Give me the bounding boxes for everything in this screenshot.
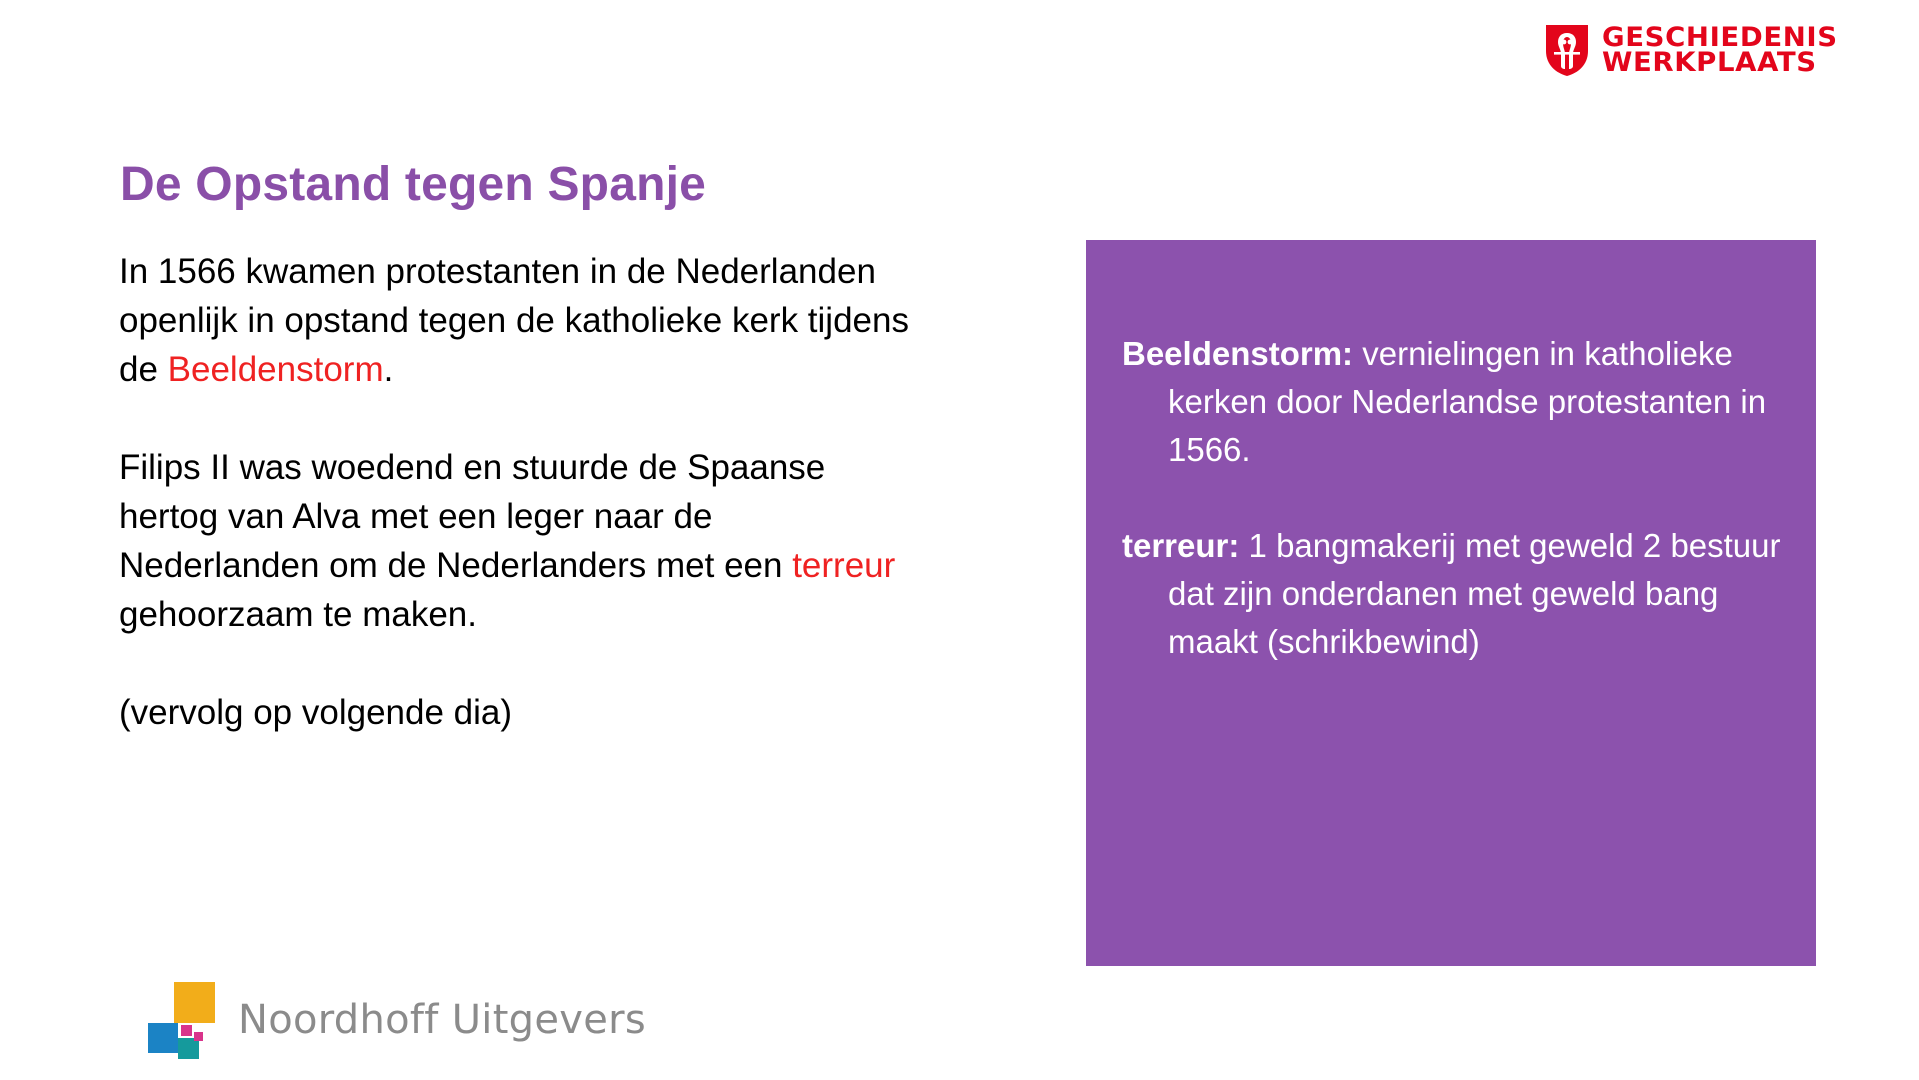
slide-title: De Opstand tegen Spanje [120,157,706,212]
body-text-block: In 1566 kwamen protestanten in de Nederl… [119,247,909,737]
body-paragraph-1: In 1566 kwamen protestanten in de Nederl… [119,247,909,394]
body-paragraph-2-segment-1: Filips II was woedend en stuurde de Spaa… [119,448,825,585]
square-blue-icon [148,1023,178,1053]
slide-canvas: GESCHIEDENIS WERKPLAATS De Opstand tegen… [0,0,1919,1080]
body-paragraph-3: (vervolg op volgende dia) [119,688,909,737]
brand-wordmark-line-2: WERKPLAATS [1602,50,1838,75]
body-paragraph-1-segment-3: . [384,350,394,389]
keyword-beeldenstorm: Beeldenstorm [168,350,384,389]
keyword-terreur: terreur [792,546,895,585]
definition-list: Beeldenstorm: vernielingen in katholieke… [1122,330,1782,666]
definition-entry-terreur: terreur: 1 bangmakerij met geweld 2 best… [1122,522,1782,666]
publisher-name: Noordhoff Uitgevers [238,997,646,1043]
brand-wordmark: GESCHIEDENIS WERKPLAATS [1602,25,1833,76]
shield-owl-icon [1544,23,1590,77]
geschiedenis-werkplaats-logo: GESCHIEDENIS WERKPLAATS [1544,23,1833,77]
definition-term-terreur: terreur: [1122,527,1239,564]
square-teal-icon [178,1038,199,1059]
square-yellow-icon [174,982,215,1023]
body-paragraph-2: Filips II was woedend en stuurde de Spaa… [119,443,909,639]
definition-text-terreur: 1 bangmakerij met geweld 2 bestuur dat z… [1168,527,1781,660]
square-pink-small-icon [194,1032,203,1041]
continuation-note: (vervolg op volgende dia) [119,693,512,732]
definition-term-beeldenstorm: Beeldenstorm: [1122,335,1353,372]
square-pink-large-icon [181,1025,192,1036]
body-paragraph-2-segment-3: gehoorzaam te maken. [119,595,477,634]
definition-entry-beeldenstorm: Beeldenstorm: vernielingen in katholieke… [1122,330,1782,474]
noordhoff-uitgevers-logo: Noordhoff Uitgevers [148,982,646,1058]
definition-box: Beeldenstorm: vernielingen in katholieke… [1086,240,1816,966]
noordhoff-mark-icon [148,982,218,1058]
